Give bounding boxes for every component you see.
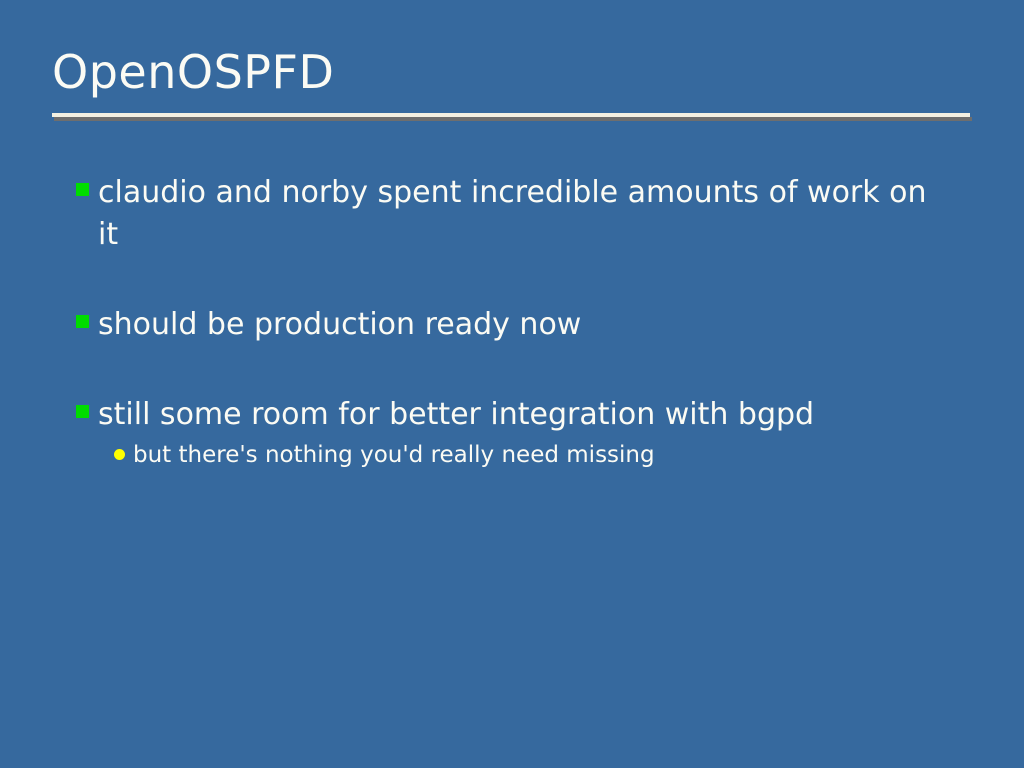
bullet-item-level2: but there's nothing you'd really need mi…: [114, 440, 976, 470]
bullet-item-level1: still some room for better integration w…: [76, 394, 976, 436]
bullet-item-level1: claudio and norby spent incredible amoun…: [76, 172, 976, 256]
bullet-item-label: still some room for better integration w…: [98, 394, 938, 436]
green-square-bullet-icon: [76, 405, 89, 418]
slide-body-bullet-list: claudio and norby spent incredible amoun…: [76, 172, 976, 470]
bullet-item-label: should be production ready now: [98, 304, 938, 346]
yellow-dot-bullet-icon: [114, 449, 125, 460]
green-square-bullet-icon: [76, 183, 89, 196]
bullet-item-label: claudio and norby spent incredible amoun…: [98, 172, 938, 256]
green-square-bullet-icon: [76, 315, 89, 328]
presentation-slide: OpenOSPFD claudio and norby spent incred…: [0, 0, 1024, 768]
slide-title: OpenOSPFD: [52, 44, 970, 100]
bullet-item-level1: should be production ready now: [76, 304, 976, 346]
bullet-item-label: but there's nothing you'd really need mi…: [133, 440, 976, 470]
title-divider-rule-shadow: [54, 117, 972, 121]
slide-title-block: OpenOSPFD: [52, 44, 970, 100]
